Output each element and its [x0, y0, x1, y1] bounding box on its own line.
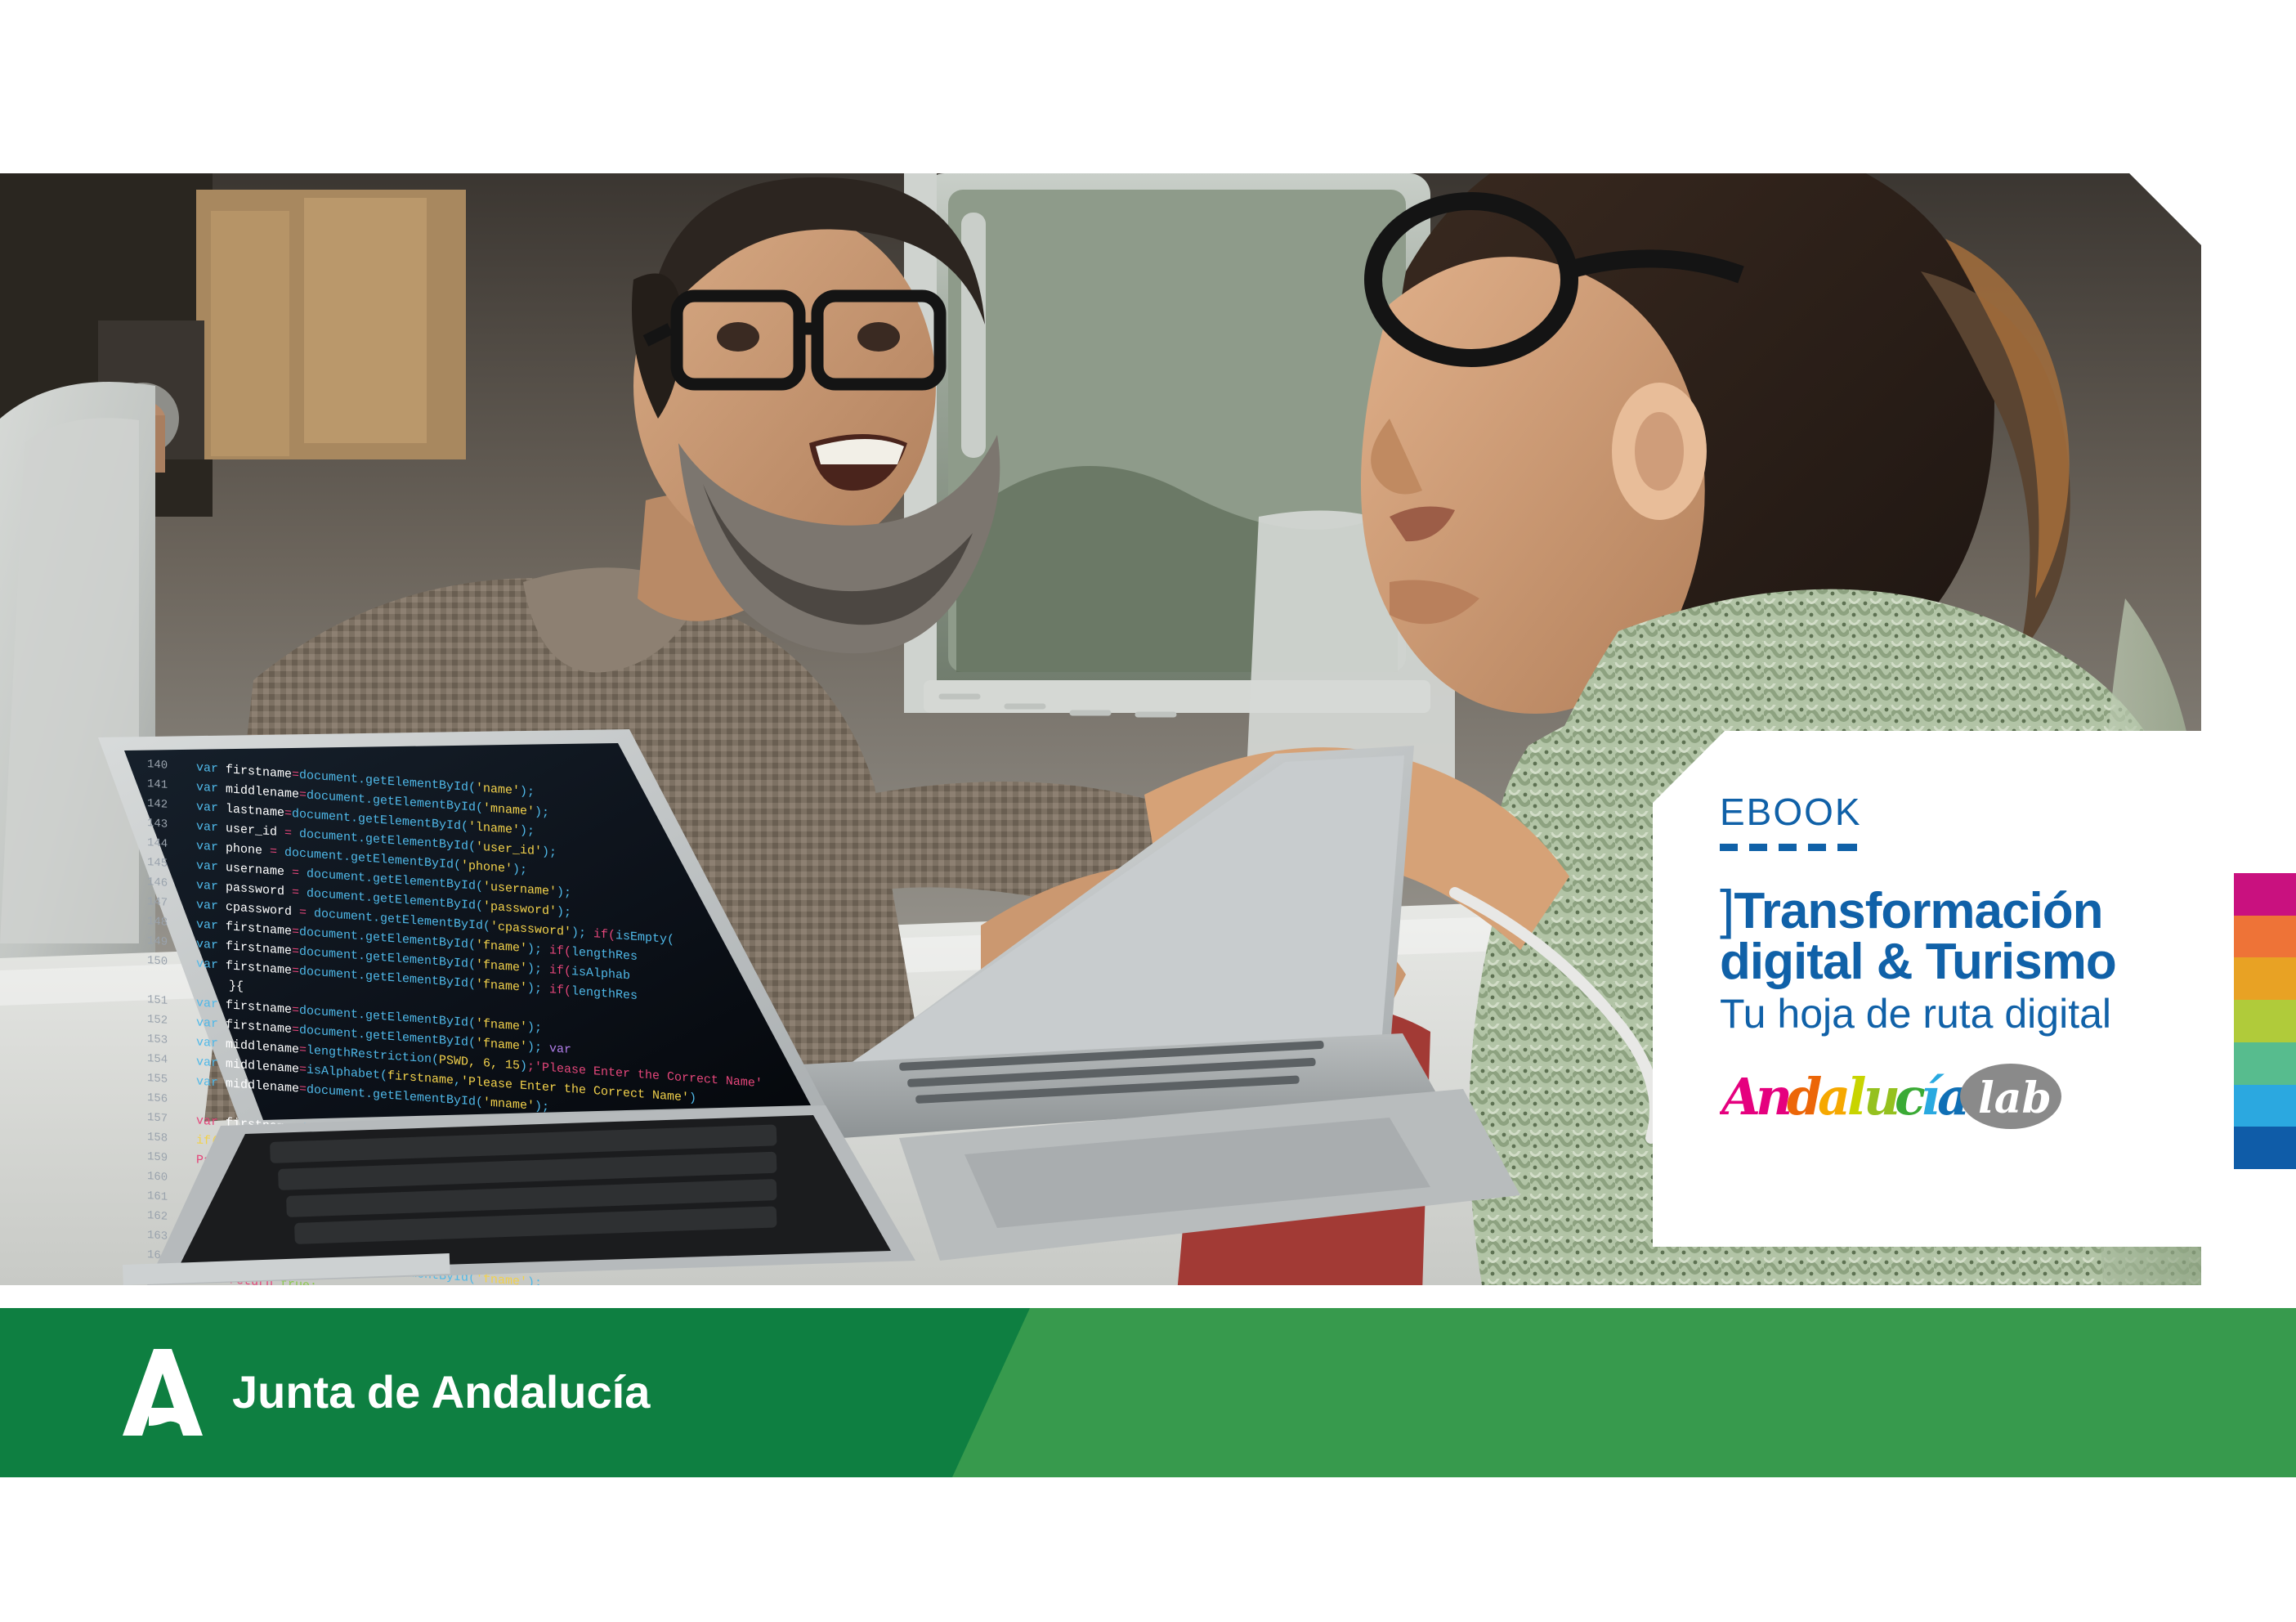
svg-text:151: 151 — [147, 993, 168, 1008]
brand-color-bar — [2234, 873, 2296, 1169]
lab-badge-text: lab — [1978, 1073, 2052, 1123]
bracket-glyph-icon: ] — [1720, 879, 1734, 939]
junta-de-andalucia-wordmark: Junta de Andalucía — [232, 1369, 650, 1415]
svg-text:161: 161 — [147, 1190, 168, 1204]
ebook-eyebrow-label: EBOOK — [1720, 793, 2177, 831]
svg-text:146: 146 — [147, 876, 168, 890]
color-stripe-teal-green — [2234, 1042, 2296, 1085]
svg-text:152: 152 — [147, 1013, 168, 1028]
svg-text:150: 150 — [147, 954, 168, 969]
ebook-title-block: ]Transformación digital & Turismo Tu hoj… — [1720, 882, 2177, 1036]
svg-text:157: 157 — [147, 1111, 168, 1126]
svg-text:141: 141 — [147, 777, 168, 792]
color-stripe-lime — [2234, 1000, 2296, 1042]
footer-band: Junta de Andalucía — [0, 1308, 2296, 1477]
color-stripe-orange — [2234, 916, 2296, 958]
color-stripe-deep-blue — [2234, 1127, 2296, 1169]
andalucia-lab-logo-art: A n d a l u c í a lab — [1720, 1060, 2063, 1131]
svg-text:147: 147 — [147, 895, 168, 910]
color-stripe-magenta — [2234, 873, 2296, 916]
svg-text:140: 140 — [147, 758, 168, 773]
svg-text:a: a — [1818, 1067, 1851, 1127]
svg-text:142: 142 — [147, 797, 168, 812]
svg-text:162: 162 — [147, 1209, 168, 1224]
ebook-title-line-1: ]Transformación — [1720, 882, 2177, 937]
svg-text:158: 158 — [147, 1131, 168, 1145]
svg-text:160: 160 — [147, 1170, 168, 1185]
color-stripe-sky-blue — [2234, 1085, 2296, 1127]
svg-text:154: 154 — [147, 1052, 168, 1067]
svg-text:A: A — [1720, 1067, 1761, 1127]
dashed-divider-icon — [1720, 844, 1857, 851]
svg-text:155: 155 — [147, 1072, 168, 1087]
andalucia-lab-logo: A n d a l u c í a lab — [1720, 1060, 2063, 1131]
svg-text:159: 159 — [147, 1150, 168, 1165]
junta-arch-icon — [114, 1344, 211, 1441]
ebook-info-card: EBOOK ]Transformación digital & Turismo … — [1653, 731, 2201, 1247]
ebook-title-line-2: digital & Turismo — [1720, 937, 2177, 988]
svg-text:153: 153 — [147, 1033, 168, 1047]
svg-text:144: 144 — [147, 836, 168, 851]
ebook-subtitle: Tu hoja de ruta digital — [1720, 992, 2177, 1036]
svg-text:d: d — [1787, 1067, 1822, 1127]
svg-text:163: 163 — [147, 1229, 168, 1243]
svg-text:}{: }{ — [229, 978, 244, 993]
svg-text:148: 148 — [147, 915, 168, 930]
svg-text:149: 149 — [147, 934, 168, 949]
svg-text:156: 156 — [147, 1091, 168, 1106]
svg-text:143: 143 — [147, 817, 168, 831]
junta-de-andalucia-logo: Junta de Andalucía — [114, 1344, 650, 1441]
color-stripe-amber — [2234, 957, 2296, 1000]
ebook-title-text-1: Transformación — [1734, 883, 2102, 939]
svg-text:145: 145 — [147, 856, 168, 871]
